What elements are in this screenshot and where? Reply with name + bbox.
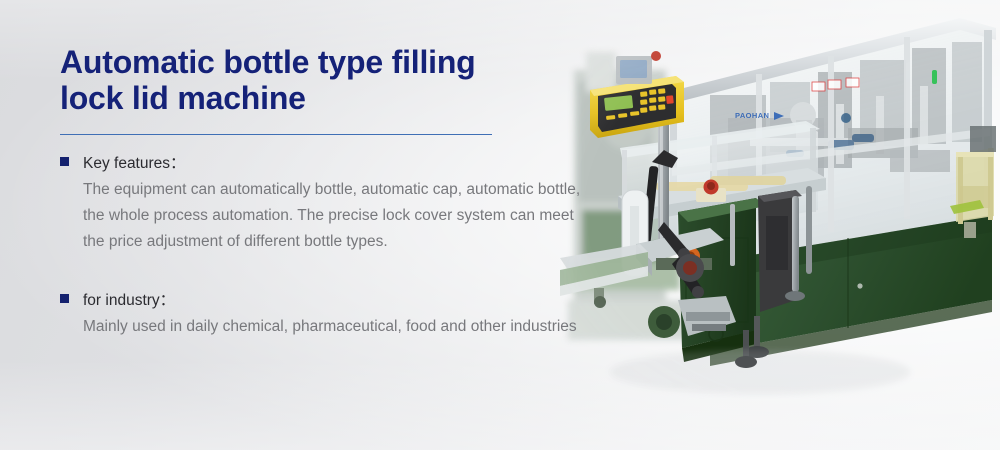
feature-label: Key features： [83,154,186,174]
feature-heading: Key features： [60,154,600,174]
svg-text:PAOHAN: PAOHAN [735,111,769,120]
feature-block-for-industry: for industry： Mainly used in daily chemi… [60,291,600,340]
page-title: Automatic bottle type filling lock lid m… [60,44,600,116]
text-column: Automatic bottle type filling lock lid m… [60,44,600,340]
square-bullet-icon [60,294,69,303]
feature-body: The equipment can automatically bottle, … [83,177,591,255]
feature-block-key-features: Key features： The equipment can automati… [60,154,600,255]
feature-heading: for industry： [60,291,600,311]
product-banner: PAOHAN [0,0,1000,450]
product-photo: PAOHAN [560,0,1000,450]
feature-label: for industry： [83,291,175,311]
title-divider [60,134,492,135]
feature-body: Mainly used in daily chemical, pharmaceu… [83,314,587,340]
square-bullet-icon [60,157,69,166]
